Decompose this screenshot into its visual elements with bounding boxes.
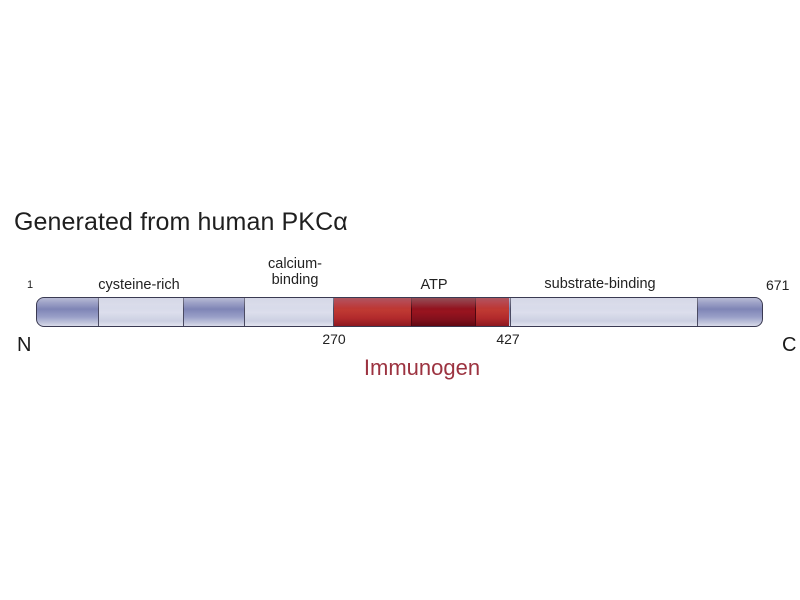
domain-label-calcium-binding-line2: binding (272, 272, 319, 288)
residue-start-label: 1 (27, 279, 33, 291)
domain-label-calcium-binding-line1: calcium- (268, 256, 322, 272)
domain-bar (36, 297, 763, 327)
immunogen-end-position: 427 (496, 331, 519, 347)
domain-segment-atp (411, 298, 476, 326)
page-title: Generated from human PKCα (14, 207, 348, 237)
immunogen-label: Immunogen (364, 355, 480, 381)
c-terminus-label: C (782, 334, 796, 356)
immunogen-start-position: 270 (322, 331, 345, 347)
n-terminus-label: N (17, 334, 31, 356)
domain-segment-substrate-binding (510, 298, 698, 326)
domain-label-atp: ATP (420, 277, 447, 293)
domain-bar-track (36, 297, 763, 327)
domain-segment-cysteine-rich (98, 298, 184, 326)
protein-domain-diagram: Generated from human PKCα 1 cysteine-ric… (0, 0, 800, 600)
domain-label-cysteine-rich: cysteine-rich (98, 277, 179, 293)
domain-label-substrate-binding: substrate-binding (544, 276, 655, 292)
domain-segment-calcium-binding (244, 298, 334, 326)
residue-end-label: 671 (766, 277, 789, 293)
